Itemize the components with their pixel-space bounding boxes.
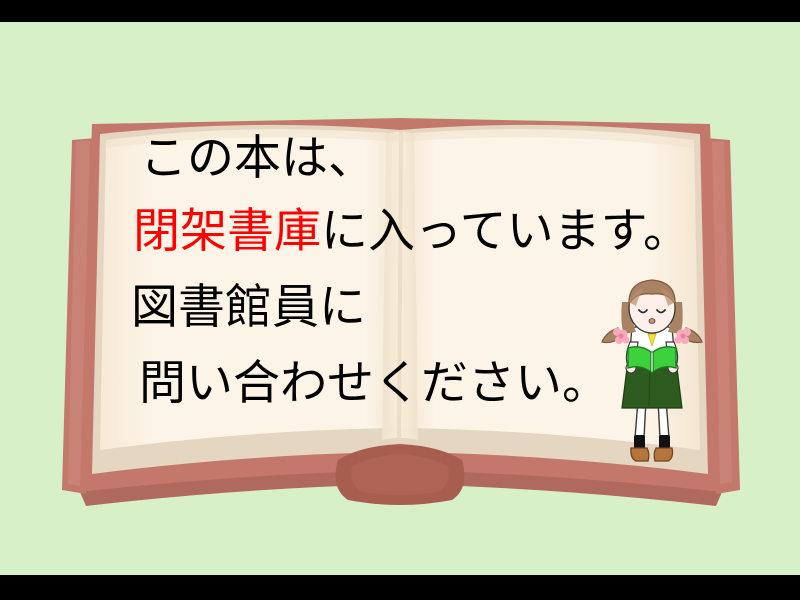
message-line-3: 図書館員に bbox=[131, 284, 366, 331]
character-mouth bbox=[649, 319, 655, 324]
slide-canvas: この本は、 閉架書庫に入っています。 図書館員に 問い合わせください。 bbox=[0, 0, 800, 600]
message-line-4: 問い合わせください。 bbox=[139, 360, 609, 407]
message-line-1-text: この本は、 bbox=[140, 131, 375, 186]
message-line-2: 閉架書庫に入っています。 bbox=[133, 208, 690, 255]
message-line-4-text: 問い合わせください。 bbox=[139, 356, 609, 411]
character-legs bbox=[631, 400, 673, 461]
letterbox-top-bar bbox=[0, 0, 800, 22]
slide-content-area: この本は、 閉架書庫に入っています。 図書館員に 問い合わせください。 bbox=[0, 22, 800, 575]
ankle-band-right bbox=[659, 435, 670, 449]
girl-reading-icon bbox=[592, 272, 712, 482]
letterbox-bottom-bar bbox=[0, 575, 800, 600]
closed-stacks-highlight: 閉架書庫 bbox=[133, 204, 321, 259]
message-line-2-text: に入っています。 bbox=[321, 204, 690, 259]
ankle-band-left bbox=[634, 435, 645, 449]
message-line-1: この本は、 bbox=[140, 135, 375, 182]
message-line-3-text: 図書館員に bbox=[131, 280, 366, 335]
shoe-right bbox=[654, 448, 672, 461]
shoe-left bbox=[631, 448, 649, 461]
